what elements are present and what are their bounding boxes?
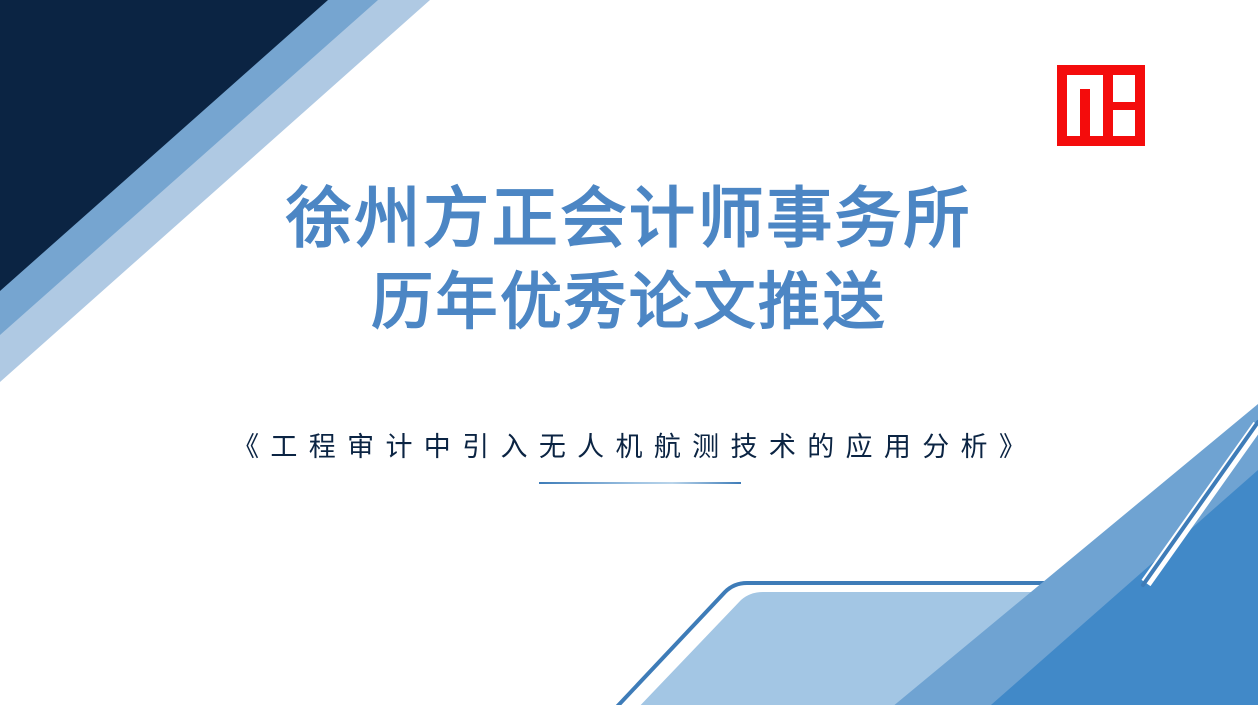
title-block: 徐州方正会计师事务所 历年优秀论文推送: [0, 178, 1258, 340]
logo-counter-right-bottom: [1113, 110, 1135, 136]
bottom-shape-fill: [634, 592, 1258, 705]
subtitle-text: 《工程审计中引入无人机航测技术的应用分析》: [0, 425, 1258, 464]
logo-counter-left-top: [1067, 75, 1103, 89]
page-title-line-2: 历年优秀论文推送: [0, 265, 1258, 341]
logo-counter-right-top: [1113, 75, 1135, 102]
bottom-shape-outline: [612, 583, 1258, 705]
fangzheng-logo-icon: [1057, 65, 1145, 146]
title-slide: 徐州方正会计师事务所 历年优秀论文推送 《工程审计中引入无人机航测技术的应用分析…: [0, 0, 1258, 705]
subtitle-divider: [539, 482, 741, 484]
bottom-band-blue: [983, 470, 1258, 705]
page-title-line-1: 徐州方正会计师事务所: [0, 178, 1258, 259]
